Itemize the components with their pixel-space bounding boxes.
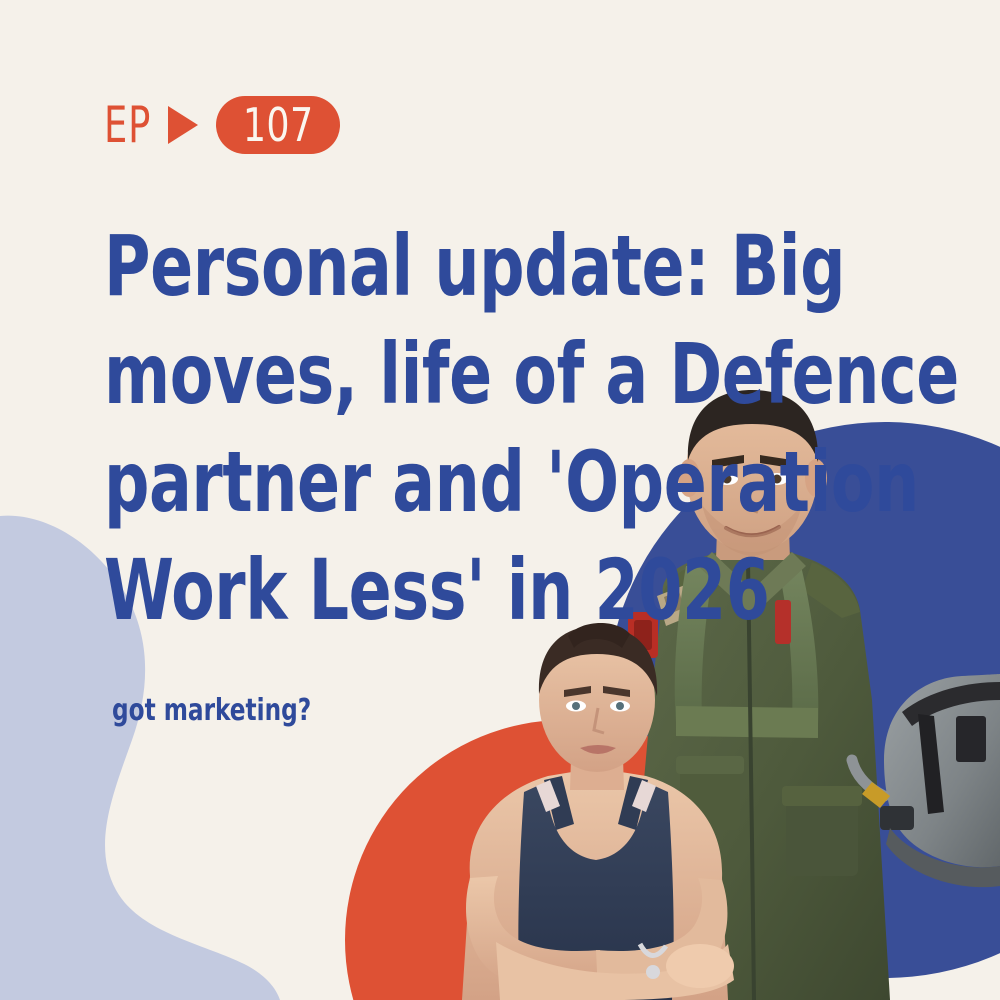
woman-eyebrow-left xyxy=(564,686,591,697)
woman-bracelet-charm xyxy=(646,965,660,979)
woman-photo xyxy=(462,623,734,1000)
woman-inner-top-right xyxy=(632,780,656,812)
helmet-visor-track xyxy=(902,682,1000,726)
title-line-1: Personal update: Big xyxy=(104,212,616,320)
helmet-hose-connector xyxy=(862,782,890,808)
title-line-3: partner and 'Operation xyxy=(104,428,616,536)
helmet-shell xyxy=(884,674,1000,867)
play-triangle-icon xyxy=(168,106,198,144)
helmet-velcro-patch xyxy=(956,716,986,762)
helmet-bottom-edge xyxy=(886,828,1000,887)
pilot-side-pocket xyxy=(786,790,858,876)
episode-number-pill: 107 xyxy=(216,96,340,154)
helmet-oxygen-hose xyxy=(852,760,884,796)
podcast-cover: EP 107 Personal update: Big moves, life … xyxy=(0,0,1000,1000)
episode-badge: EP 107 xyxy=(104,96,340,154)
pilot-harness-chest-strap xyxy=(676,706,818,738)
pilot-side-pocket-flap xyxy=(782,786,862,806)
woman-eye-left xyxy=(566,701,586,712)
woman-eye-right xyxy=(610,701,630,712)
helmet-mask-clip xyxy=(880,806,914,830)
orange-circle-shape xyxy=(345,720,785,1000)
woman-bracelet xyxy=(640,944,666,956)
woman-forearm-front xyxy=(496,942,734,1000)
pilot-shoulder-right xyxy=(802,562,860,618)
woman-torso xyxy=(462,768,728,1000)
title-line-2: moves, life of a Defence xyxy=(104,320,616,428)
woman-hand xyxy=(666,944,734,988)
woman-head xyxy=(539,628,655,772)
episode-number: 107 xyxy=(242,102,313,148)
title-line-4: Work Less' in 2026 xyxy=(104,536,616,644)
woman-arm-left xyxy=(466,876,600,993)
pilot-chest-pocket xyxy=(680,760,740,830)
helmet-chin-strap xyxy=(918,714,944,814)
woman-nose xyxy=(594,708,604,733)
ep-label: EP xyxy=(104,100,151,150)
pilot-red-tab xyxy=(775,600,791,644)
woman-pupil-left xyxy=(572,702,580,710)
woman-tank-top xyxy=(518,782,673,1000)
flight-helmet xyxy=(852,674,1000,887)
woman-strap-right xyxy=(618,776,648,830)
show-tagline: got marketing? xyxy=(112,696,311,726)
woman-inner-top xyxy=(536,780,560,812)
woman-strap-left xyxy=(544,776,574,830)
episode-title: Personal update: Big moves, life of a De… xyxy=(104,212,714,644)
woman-pupil-right xyxy=(616,702,624,710)
woman-neck xyxy=(570,726,624,790)
woman-lips xyxy=(580,745,616,754)
pilot-chest-pocket-flap xyxy=(676,756,744,774)
woman-eyebrow-right xyxy=(603,686,630,697)
pilot-harness-right xyxy=(778,562,818,726)
woman-arm-right xyxy=(596,878,727,995)
